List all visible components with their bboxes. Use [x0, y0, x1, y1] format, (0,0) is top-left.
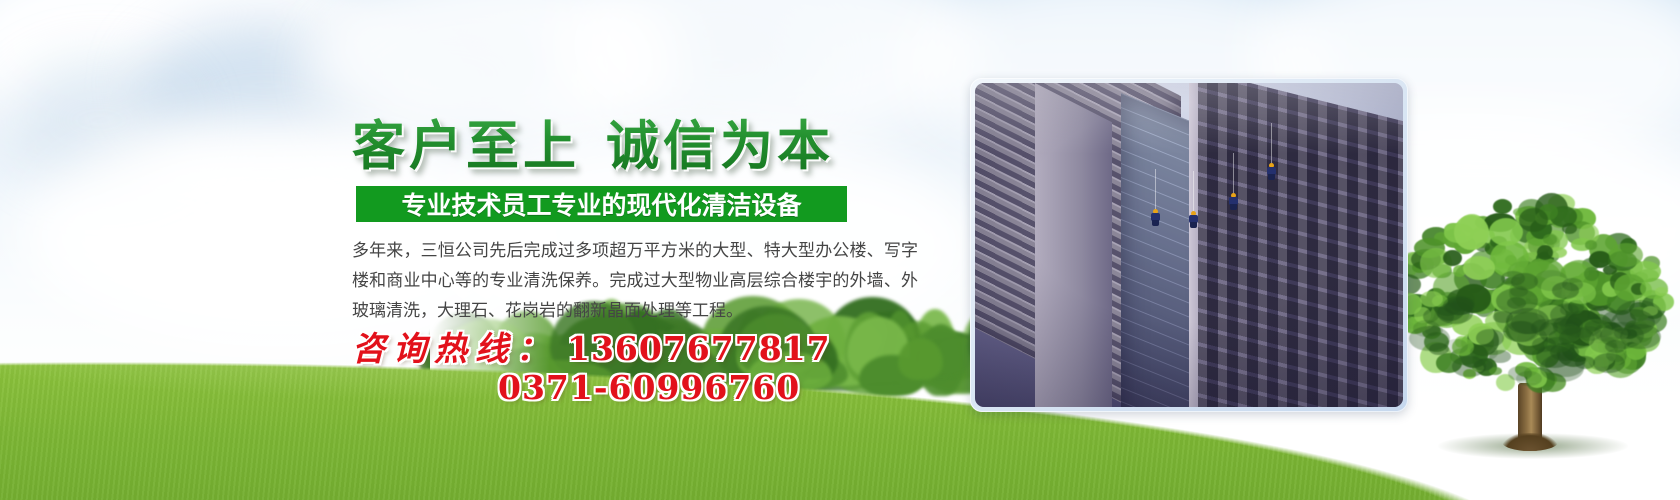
subtitle-green-bar: 专业技术员工专业的现代化清洁设备 — [356, 186, 847, 222]
banner-copy: 客户至上诚信为本 专业技术员工专业的现代化清洁设备 多年来，三恒公司先后完成过多… — [0, 0, 1680, 500]
headline-part-1: 客户至上 — [352, 115, 580, 177]
hotline-number-secondary: 0371-60996760 — [498, 368, 800, 407]
hotline-number-primary: 13607677817 — [567, 329, 831, 368]
hotline-label: 咨询热线： — [352, 329, 557, 368]
hotline-row: 咨询热线：13607677817 — [352, 322, 831, 370]
headline: 客户至上诚信为本 — [352, 104, 834, 180]
subtitle-text: 专业技术员工专业的现代化清洁设备 — [401, 186, 801, 222]
promo-banner: 客户至上诚信为本 专业技术员工专业的现代化清洁设备 多年来，三恒公司先后完成过多… — [0, 0, 1680, 500]
description-paragraph: 多年来，三恒公司先后完成过多项超万平方米的大型、特大型办公楼、写字楼和商业中心等… — [352, 236, 918, 326]
headline-part-2: 诚信为本 — [606, 115, 834, 177]
